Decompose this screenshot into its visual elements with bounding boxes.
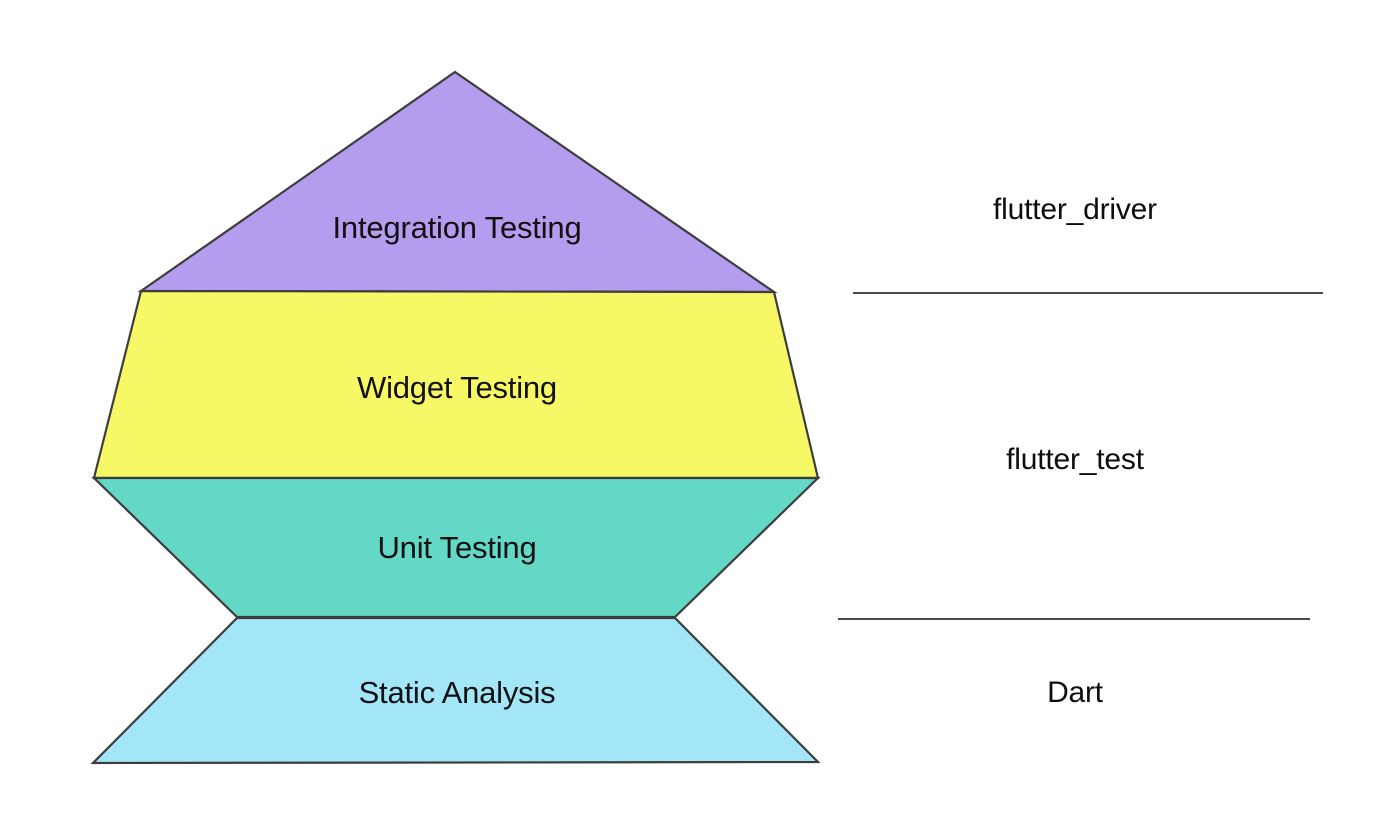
- layer-label-widget-testing: Widget Testing: [357, 370, 557, 406]
- divider-bottom: [838, 618, 1310, 620]
- layer-label-integration-testing: Integration Testing: [333, 210, 582, 246]
- layer-shape-integration-testing[interactable]: [141, 72, 774, 292]
- layer-label-static-analysis: Static Analysis: [359, 675, 556, 711]
- testing-pyramid-graphic: [0, 0, 1400, 831]
- divider-top: [853, 292, 1323, 294]
- side-label-flutter-test: flutter_test: [1006, 443, 1144, 477]
- layer-label-unit-testing: Unit Testing: [377, 530, 536, 566]
- diagram-canvas: Integration Testing Widget Testing Unit …: [0, 0, 1400, 831]
- side-label-dart: Dart: [1047, 676, 1103, 710]
- side-label-flutter-driver: flutter_driver: [993, 193, 1157, 227]
